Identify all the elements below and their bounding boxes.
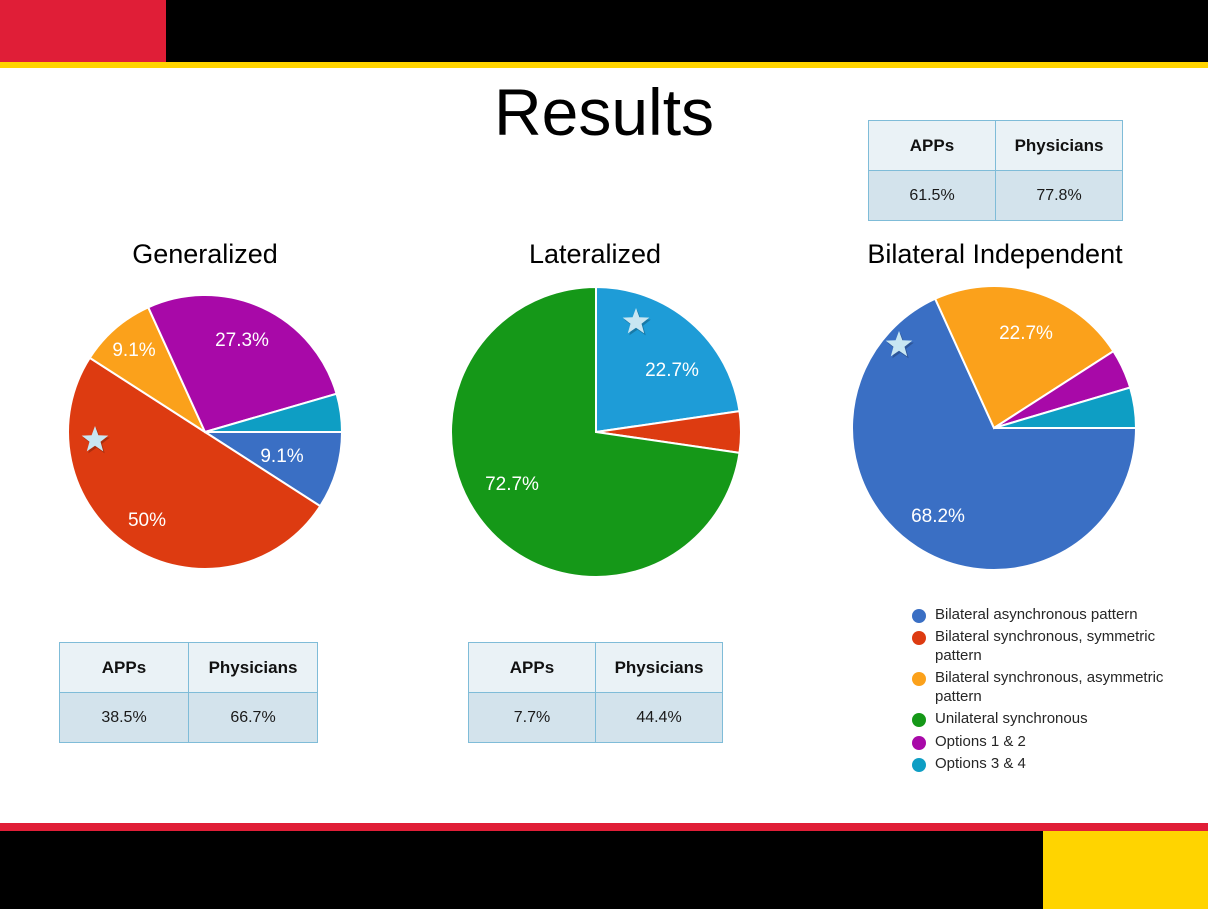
pie-slice-label: 72.7% xyxy=(485,474,539,495)
legend-item: Options 1 & 2 xyxy=(912,733,1202,751)
pie-chart-generalized: 9.1% 50% 9.1% 27.3% xyxy=(67,294,347,574)
pie-slice-label: 50% xyxy=(128,510,166,531)
legend-color-dot-icon xyxy=(912,758,926,772)
pie-slice-label: 9.1% xyxy=(112,340,155,361)
column-header-physicians: Physicians xyxy=(596,643,723,693)
legend-item-label: Bilateral synchronous, symmetric pattern xyxy=(935,628,1202,665)
table-row: 38.5% 66.7% xyxy=(60,693,318,743)
pie-slice-label: 68.2% xyxy=(911,506,965,527)
legend-color-dot-icon xyxy=(912,672,926,686)
legend-item: Bilateral synchronous, asymmetric patter… xyxy=(912,669,1202,706)
slide-footer-bar xyxy=(0,831,1208,909)
pie-slice-label: 27.3% xyxy=(215,330,269,351)
legend-item: Unilateral synchronous xyxy=(912,710,1202,728)
legend-color-dot-icon xyxy=(912,713,926,727)
legend-color-dot-icon xyxy=(912,631,926,645)
cell-physicians-value: 44.4% xyxy=(596,693,723,743)
legend-item: Options 3 & 4 xyxy=(912,755,1202,773)
table-row: 7.7% 44.4% xyxy=(469,693,723,743)
chart-heading-generalized: Generalized xyxy=(60,239,350,270)
legend-color-dot-icon xyxy=(912,609,926,623)
cell-apps-value: 7.7% xyxy=(469,693,596,743)
chart-heading-bilateral-independent: Bilateral Independent xyxy=(845,239,1145,270)
cell-apps-value: 38.5% xyxy=(60,693,189,743)
chart-heading-lateralized: Lateralized xyxy=(450,239,740,270)
legend-item: Bilateral asynchronous pattern xyxy=(912,606,1202,624)
header-white-gap xyxy=(0,68,1208,71)
column-header-apps: APPs xyxy=(469,643,596,693)
footer-red-rule xyxy=(0,823,1208,831)
table-header-row: APPs Physicians xyxy=(60,643,318,693)
legend-item: Bilateral synchronous, symmetric pattern xyxy=(912,628,1202,665)
legend-item-label: Bilateral asynchronous pattern xyxy=(935,606,1138,624)
lateralized-stat-table: APPs Physicians 7.7% 44.4% xyxy=(468,642,723,743)
pie-chart-bilateral-independent: 68.2% 22.7% xyxy=(851,285,1137,571)
legend-item-label: Options 3 & 4 xyxy=(935,755,1026,773)
slide-header-bar xyxy=(0,0,1208,62)
pie-slice-label: 22.7% xyxy=(645,360,699,381)
pie-slice-label: 22.7% xyxy=(999,323,1053,344)
legend-item-label: Bilateral synchronous, asymmetric patter… xyxy=(935,669,1202,706)
pie-svg-bilateral: 68.2% 22.7% xyxy=(851,285,1137,571)
pie-slice-label: 9.1% xyxy=(260,446,303,467)
column-header-apps: APPs xyxy=(60,643,189,693)
legend-item-label: Unilateral synchronous xyxy=(935,710,1088,728)
column-header-apps: APPs xyxy=(869,121,996,171)
cell-physicians-value: 77.8% xyxy=(996,171,1123,221)
header-red-accent-block xyxy=(0,0,166,62)
cell-physicians-value: 66.7% xyxy=(189,693,318,743)
bilateral-stat-table: APPs Physicians 61.5% 77.8% xyxy=(868,120,1123,221)
legend-color-dot-icon xyxy=(912,736,926,750)
pie-svg-generalized: 9.1% 50% 9.1% 27.3% xyxy=(67,294,347,574)
table-row: 61.5% 77.8% xyxy=(869,171,1123,221)
footer-yellow-accent-block xyxy=(1043,831,1208,909)
pie-svg-lateralized: 22.7% 72.7% xyxy=(450,286,742,578)
chart-legend: Bilateral asynchronous pattern Bilateral… xyxy=(912,606,1202,778)
table-header-row: APPs Physicians xyxy=(869,121,1123,171)
column-header-physicians: Physicians xyxy=(189,643,318,693)
table-header-row: APPs Physicians xyxy=(469,643,723,693)
column-header-physicians: Physicians xyxy=(996,121,1123,171)
legend-item-label: Options 1 & 2 xyxy=(935,733,1026,751)
generalized-stat-table: APPs Physicians 38.5% 66.7% xyxy=(59,642,318,743)
cell-apps-value: 61.5% xyxy=(869,171,996,221)
pie-chart-lateralized: 22.7% 72.7% xyxy=(450,286,742,578)
